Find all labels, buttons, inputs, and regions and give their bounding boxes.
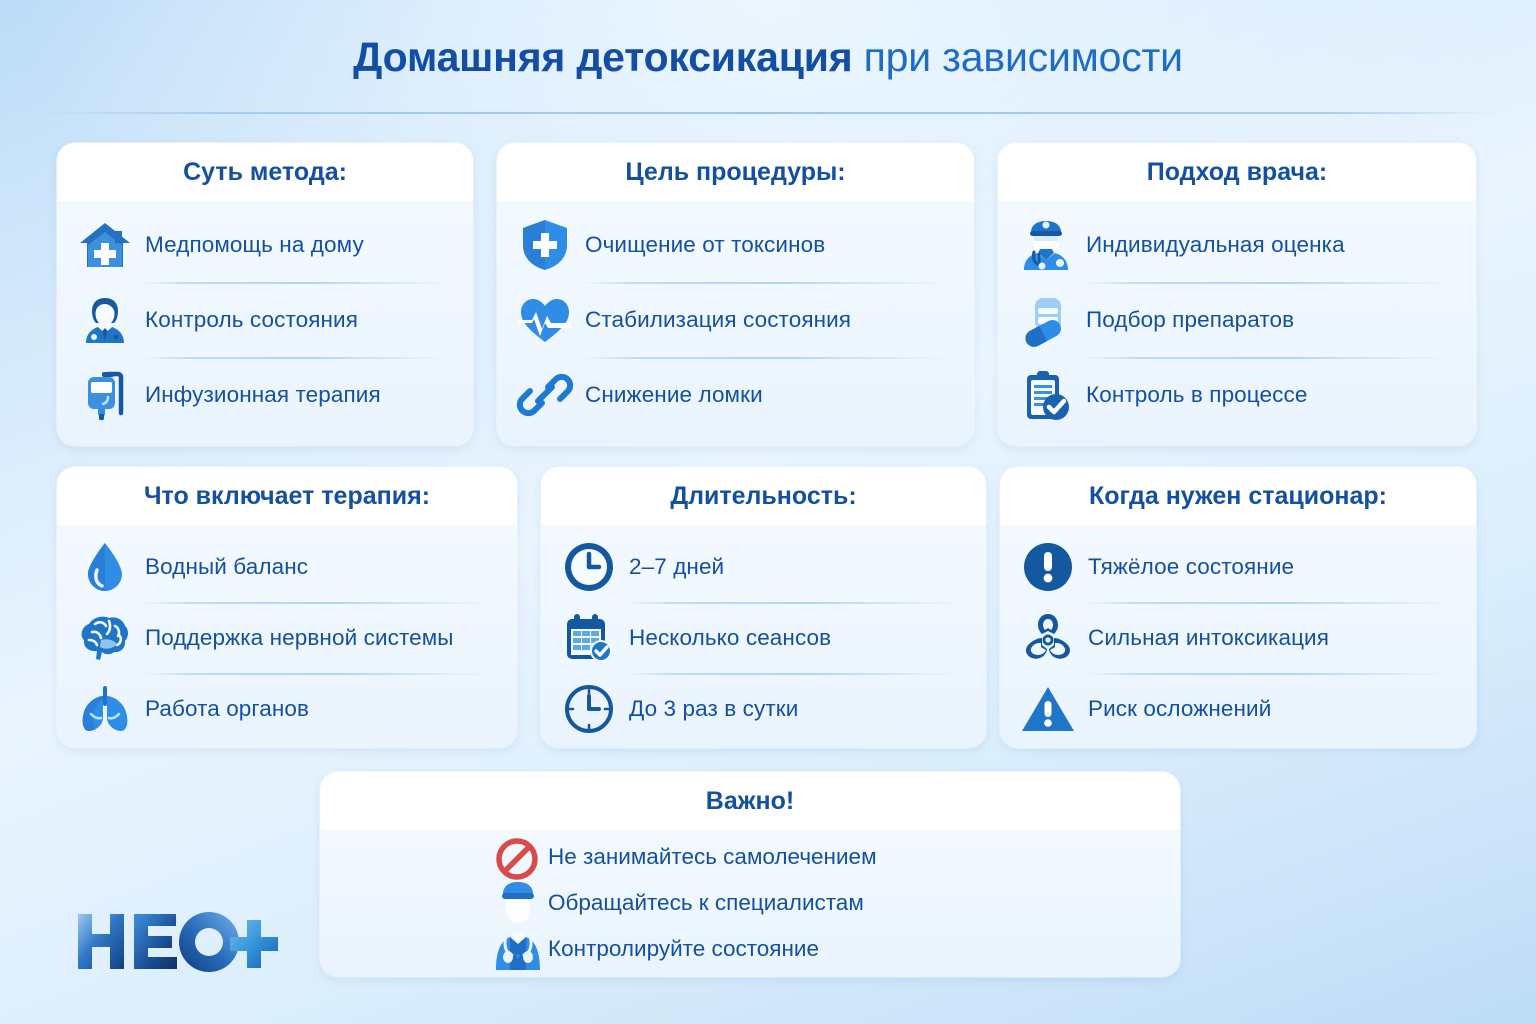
- list-item[interactable]: Медпомощь на дому: [75, 207, 451, 282]
- card-body: 2–7 дней Неск: [541, 525, 986, 748]
- list-item-label: Риск осложнений: [1088, 696, 1271, 722]
- title-divider: [36, 112, 1500, 114]
- list-item[interactable]: Не занимайтесь самолечением: [490, 834, 1180, 880]
- card-podhod-vracha: Подход врача: Индивидуальная оце: [998, 143, 1476, 446]
- list-item-label: Индивидуальная оценка: [1086, 232, 1345, 258]
- list-item[interactable]: Риск осложнений: [1018, 673, 1454, 744]
- list-item[interactable]: До 3 раз в сутки: [559, 673, 964, 744]
- card-body: Не занимайтесь самолечением Обращайтесь …: [320, 830, 1180, 972]
- list-item[interactable]: Инфузионная терапия: [75, 357, 451, 432]
- list-item-label: Обращайтесь к специалистам: [548, 890, 864, 916]
- list-item[interactable]: Контроль в процессе: [1016, 357, 1454, 432]
- shield-cross-icon: [515, 216, 575, 274]
- exclamation-circle-icon: [1018, 538, 1078, 596]
- list-item-label: Подбор препаратов: [1086, 307, 1294, 333]
- list-item[interactable]: Несколько сеансов: [559, 602, 964, 673]
- card-title: Что включает терапия:: [57, 467, 517, 525]
- calendar-check-icon: [559, 609, 619, 667]
- list-item-label: Несколько сеансов: [629, 625, 831, 651]
- clipboard-check-icon: [1016, 366, 1076, 424]
- list-item-label: Тяжёлое состояние: [1088, 554, 1294, 580]
- important-list: Не занимайтесь самолечением Обращайтесь …: [320, 834, 1180, 972]
- doctor-stethoscope-icon: [1016, 216, 1076, 274]
- card-title: Когда нужен стационар:: [1000, 467, 1476, 525]
- biohazard-icon: [1018, 609, 1078, 667]
- list-item[interactable]: Обращайтесь к специалистам: [490, 880, 1180, 926]
- list-item[interactable]: Тяжёлое состояние: [1018, 531, 1454, 602]
- card-title: Подход врача:: [998, 143, 1476, 201]
- list-item-label: Медпомощь на дому: [145, 232, 364, 258]
- logo-neo-plus[interactable]: [74, 908, 284, 974]
- list-item[interactable]: Работа органов: [75, 673, 495, 744]
- card-title: Цель процедуры:: [497, 143, 974, 201]
- warning-triangle-icon: [1018, 680, 1078, 738]
- card-title: Важно!: [320, 772, 1180, 830]
- card-kogda-nuzhen-stacionar: Когда нужен стационар: Тяжёлое состояние: [1000, 467, 1476, 748]
- list-item[interactable]: Стабилизация состояния: [515, 282, 952, 357]
- card-title: Длительность:: [541, 467, 986, 525]
- list-item-label: Водный баланс: [145, 554, 308, 580]
- list-item-label: Поддержка нервной системы: [145, 625, 454, 651]
- list-item[interactable]: Поддержка нервной системы: [75, 602, 495, 673]
- chain-link-icon: [515, 366, 575, 424]
- list-item[interactable]: Контроль состояния: [75, 282, 451, 357]
- list-item-label: Очищение от токсинов: [585, 232, 825, 258]
- doctor-person-icon: [75, 291, 135, 349]
- list-item-label: 2–7 дней: [629, 554, 724, 580]
- card-chto-vklyuchaet-terapiya: Что включает терапия: Водный баланс: [57, 467, 517, 748]
- list-item[interactable]: Индивидуальная оценка: [1016, 207, 1454, 282]
- lungs-icon: [75, 680, 135, 738]
- list-item-label: Работа органов: [145, 696, 309, 722]
- iv-drip-icon: [75, 366, 135, 424]
- card-cel-procedury: Цель процедуры: Очищение от токсинов Ста…: [497, 143, 974, 446]
- page-title: Домашняя детоксикация при зависимости: [0, 34, 1536, 81]
- card-vazhno: Важно!: [320, 772, 1180, 977]
- list-item-label: Снижение ломки: [585, 382, 763, 408]
- clock-outline-icon: [559, 680, 619, 738]
- list-item-label: Контролируйте состояние: [548, 936, 819, 962]
- clock-filled-icon: [559, 538, 619, 596]
- list-item-label: До 3 раз в сутки: [629, 696, 798, 722]
- list-item[interactable]: Подбор препаратов: [1016, 282, 1454, 357]
- page-title-bold: Домашняя детоксикация: [353, 34, 852, 80]
- home-medical-icon: [75, 216, 135, 274]
- page-title-light: при зависимости: [864, 34, 1183, 80]
- pills-icon: [1016, 291, 1076, 349]
- list-item-label: Не занимайтесь самолечением: [548, 844, 877, 870]
- list-item-label: Стабилизация состояния: [585, 307, 851, 333]
- list-item-label: Сильная интоксикация: [1088, 625, 1329, 651]
- list-item-label: Контроль в процессе: [1086, 382, 1307, 408]
- no-entry-icon: [496, 838, 538, 880]
- list-item[interactable]: Сильная интоксикация: [1018, 602, 1454, 673]
- list-item[interactable]: 2–7 дней: [559, 531, 964, 602]
- card-title: Суть метода:: [57, 143, 473, 201]
- heart-pulse-icon: [515, 291, 575, 349]
- card-dlitelnost: Длительность: 2–7 дней: [541, 467, 986, 748]
- list-item-label: Контроль состояния: [145, 307, 358, 333]
- list-item-label: Инфузионная терапия: [145, 382, 381, 408]
- card-body: Индивидуальная оценка Подбор препаратов: [998, 201, 1476, 442]
- water-drop-icon: [75, 538, 135, 596]
- card-body: Очищение от токсинов Стабилизация состоя…: [497, 201, 974, 442]
- list-item[interactable]: Контролируйте состояние: [490, 926, 1180, 972]
- card-body: Тяжёлое состояние Сильная интоксикация: [1000, 525, 1476, 748]
- brain-icon: [75, 609, 135, 667]
- list-item[interactable]: Снижение ломки: [515, 357, 952, 432]
- medic-person-icon: [492, 878, 544, 970]
- card-sut-metoda: Суть метода: Медпомощь на дому: [57, 143, 473, 446]
- list-item[interactable]: Очищение от токсинов: [515, 207, 952, 282]
- card-body: Водный баланс Поддержка нервн: [57, 525, 517, 748]
- list-item[interactable]: Водный баланс: [75, 531, 495, 602]
- card-body: Медпомощь на дому Контроль состояния: [57, 201, 473, 442]
